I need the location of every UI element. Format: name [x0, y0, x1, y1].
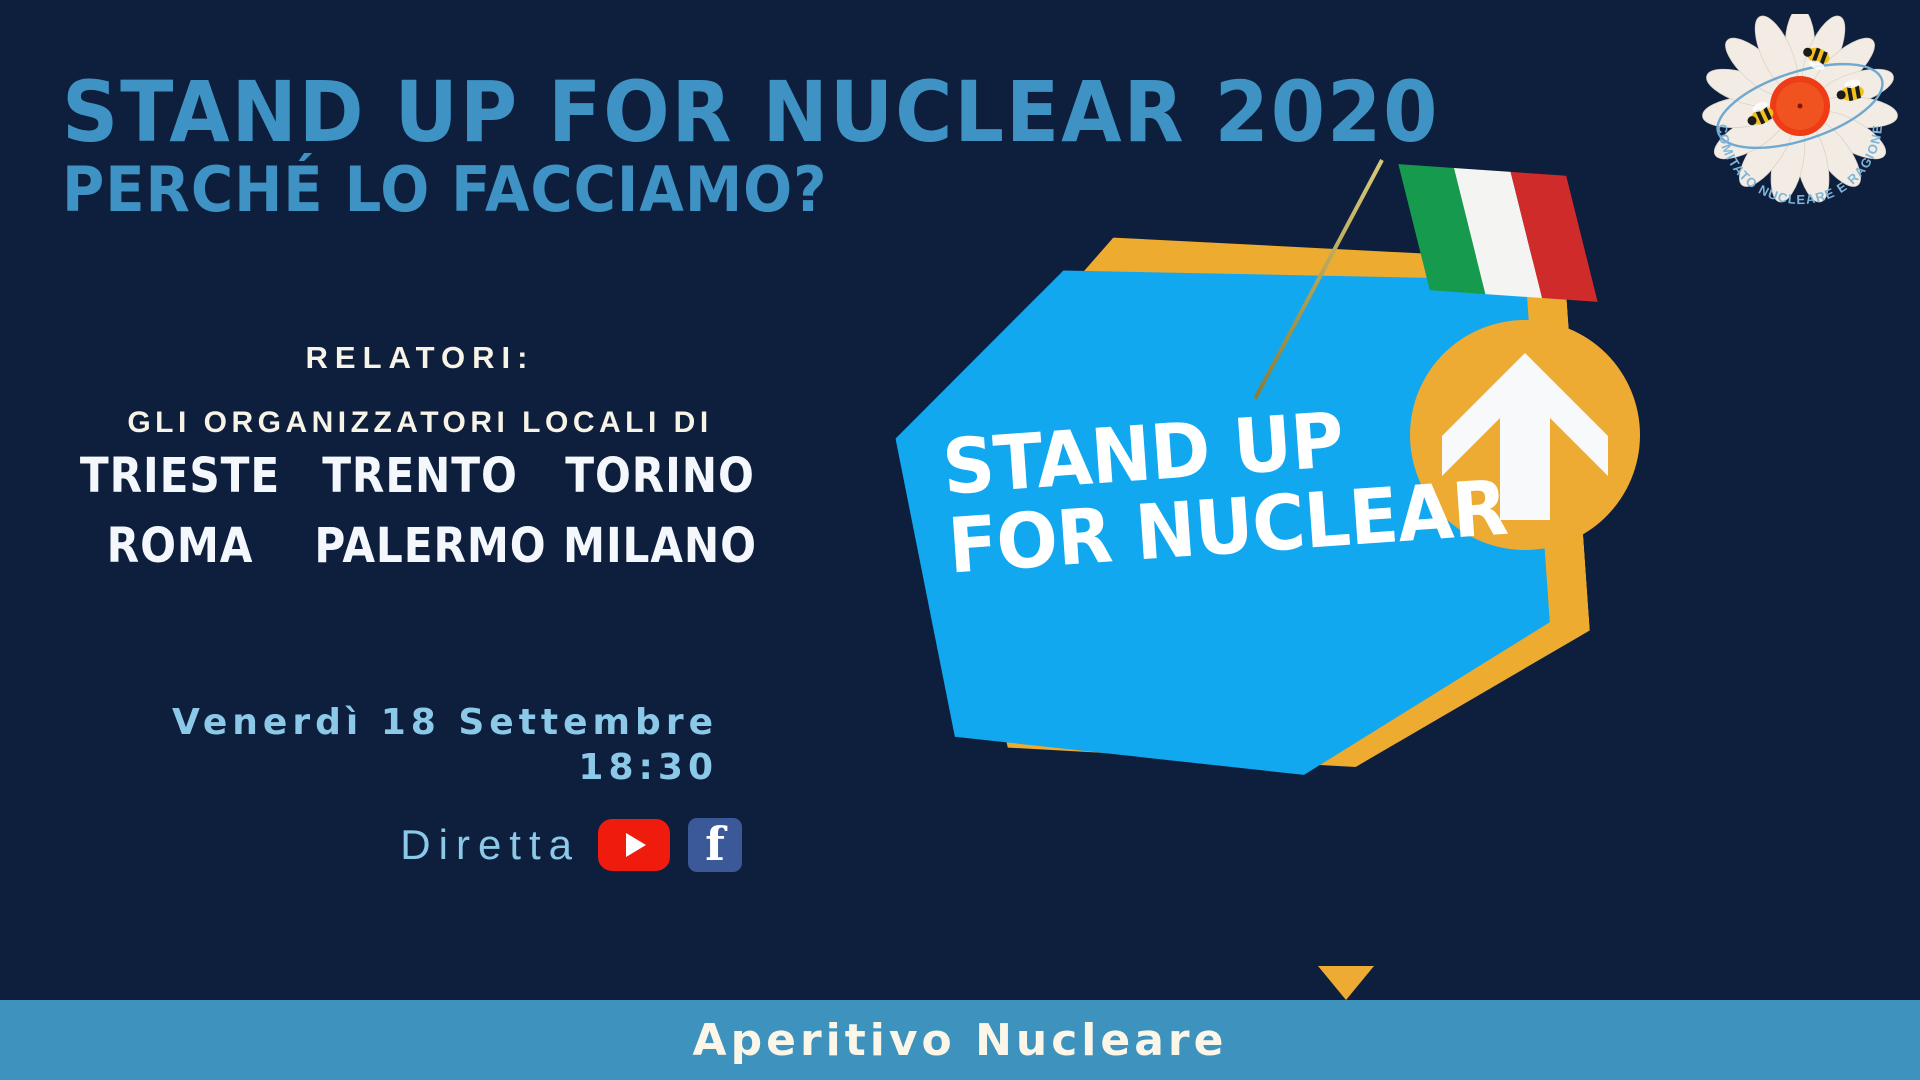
event-date: Venerdì 18 Settembre	[40, 700, 718, 745]
city-palermo: PALERMO	[314, 518, 525, 574]
italian-flag	[1370, 140, 1630, 420]
footer-text: Aperitivo Nucleare	[693, 1015, 1228, 1066]
relatori-label: RELATORI:	[40, 340, 800, 376]
play-triangle-icon	[626, 833, 646, 857]
page-title: STAND UP FOR NUCLEAR 2020	[62, 72, 1271, 153]
event-datetime: Venerdì 18 Settembre 18:30	[40, 700, 800, 790]
speakers-block: RELATORI: GLI ORGANIZZATORI LOCALI DI TR…	[40, 340, 800, 574]
event-time: 18:30	[40, 745, 718, 790]
footer-band: Aperitivo Nucleare	[0, 1000, 1920, 1080]
city-trieste: TRIESTE	[74, 448, 285, 504]
city-row-2: ROMA PALERMO MILANO	[40, 518, 800, 574]
city-roma: ROMA	[74, 518, 285, 574]
city-row-1: TRIESTE TRENTO TORINO	[40, 448, 800, 504]
flag-cloth	[1398, 164, 1597, 302]
youtube-icon[interactable]	[598, 819, 670, 871]
title-block: STAND UP FOR NUCLEAR 2020 PERCHÉ LO FACC…	[62, 72, 1362, 221]
facebook-glyph: f	[688, 818, 742, 872]
poster-canvas: STAND UP FOR NUCLEAR 2020 PERCHÉ LO FACC…	[0, 0, 1920, 1080]
city-milano: MILANO	[554, 518, 765, 574]
live-stream-row: Diretta f	[40, 818, 800, 872]
daisy-bees-logo: COMITATO NUCLEARE E RAGIONE	[1690, 14, 1910, 214]
city-trento: TRENTO	[314, 448, 525, 504]
band-notch-icon	[1318, 966, 1374, 1000]
city-torino: TORINO	[554, 448, 765, 504]
organizers-label: GLI ORGANIZZATORI LOCALI DI	[40, 406, 800, 440]
live-label: Diretta	[400, 821, 580, 869]
facebook-icon[interactable]: f	[688, 818, 742, 872]
